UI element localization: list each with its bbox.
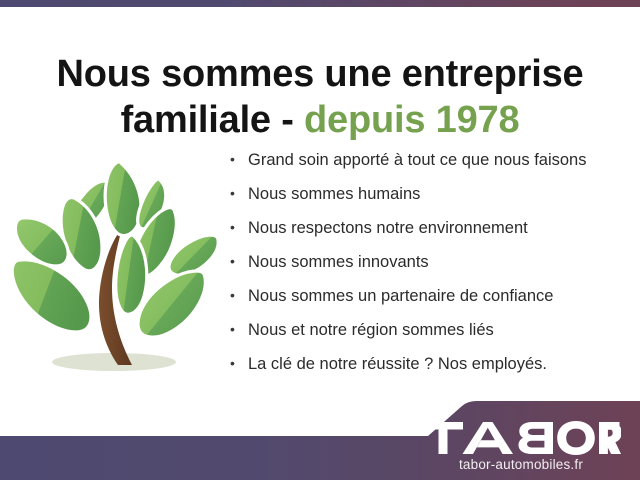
brand-url[interactable]: tabor-automobiles.fr xyxy=(416,457,626,472)
leaf-far-right xyxy=(169,235,218,275)
logo-letter-t xyxy=(423,422,463,454)
title-line-2: familiale - depuis 1978 xyxy=(0,97,640,143)
footer-band: tabor-automobiles.fr xyxy=(0,400,640,480)
tree-illustration xyxy=(8,140,233,390)
list-item: La clé de notre réussite ? Nos employés. xyxy=(228,352,628,376)
list-item: Nous respectons notre environnement xyxy=(228,216,628,240)
list-item: Nous sommes innovants xyxy=(228,250,628,274)
logo-letter-a xyxy=(463,422,514,454)
brand-logo[interactable]: tabor-automobiles.fr xyxy=(416,420,626,472)
list-item: Grand soin apporté à tout ce que nous fa… xyxy=(228,148,628,172)
title-line-1: Nous sommes une entreprise xyxy=(0,51,640,97)
top-accent-bar xyxy=(0,0,640,7)
logo-letter-r-bowl xyxy=(606,422,621,454)
logo-letter-b-mirrored xyxy=(519,422,554,454)
benefits-list: Grand soin apporté à tout ce que nous fa… xyxy=(228,148,628,386)
slide-canvas: Nous sommes une entreprise familiale - d… xyxy=(0,0,640,480)
list-item: Nous et notre région sommes liés xyxy=(228,318,628,342)
list-item: Nous sommes un partenaire de confiance xyxy=(228,284,628,308)
leaf-left-large xyxy=(12,260,91,332)
logo-letter-o xyxy=(557,421,595,455)
page-title: Nous sommes une entreprise familiale - d… xyxy=(0,51,640,143)
leaf-top-center xyxy=(105,162,141,236)
title-line-2-black: familiale - xyxy=(121,99,304,141)
list-item: Nous sommes humains xyxy=(228,182,628,206)
title-accent-year: depuis 1978 xyxy=(304,99,519,141)
leaf-center-lower xyxy=(116,235,147,314)
